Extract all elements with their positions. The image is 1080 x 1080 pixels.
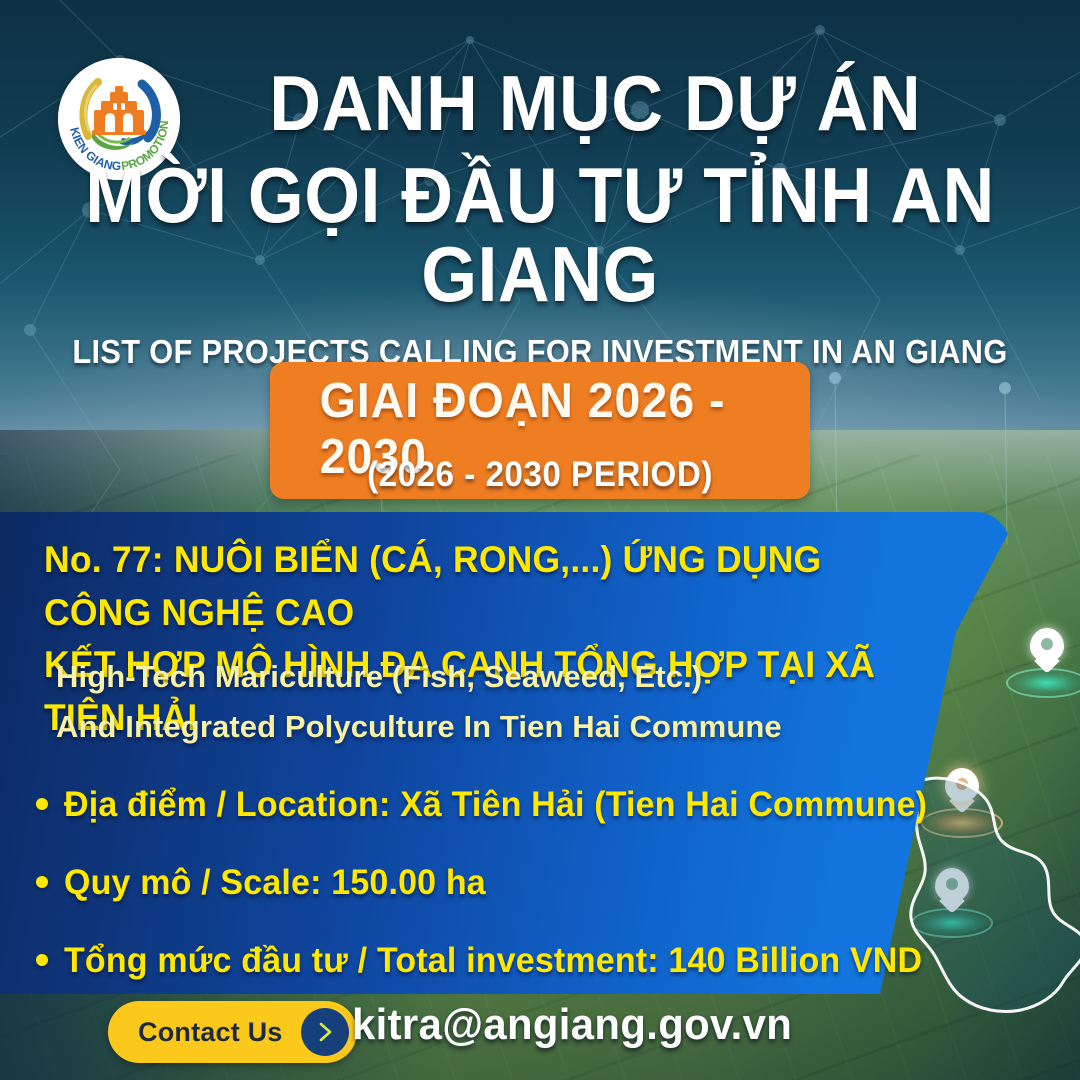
project-subtitle-line2: And Integrated Polyculture In Tien Hai C… — [56, 702, 936, 752]
project-detail-investment: Tổng mức đầu tư / Total investment: 140 … — [64, 940, 922, 982]
page-title-line1: DANH MỤC DỰ ÁN — [43, 64, 1037, 144]
contact-us-label: Contact Us — [138, 1017, 283, 1048]
period-english-label: (2026 - 2030 PERIOD) — [367, 455, 713, 495]
chevron-right-glyph — [313, 1020, 337, 1044]
project-detail-scale: Quy mô / Scale: 150.00 ha — [64, 862, 486, 904]
poster-canvas: KIEN GIANG PROMOTION DANH MỤC DỰ ÁN MỜI … — [0, 0, 1080, 1080]
contact-us-button[interactable]: Contact Us — [108, 1001, 357, 1063]
project-heading-line1: No. 77: NUÔI BIỂN (CÁ, RONG,...) ỨNG DỤN… — [44, 539, 821, 633]
project-details-list: Địa điểm / Location: Xã Tiên Hải (Tien H… — [30, 784, 960, 1018]
project-subtitle-english: High-Tech Mariculture (Fish, Seaweed, Et… — [56, 652, 936, 752]
bullet-dot-icon — [36, 876, 48, 888]
poster-header: DANH MỤC DỰ ÁN MỜI GỌI ĐẦU TƯ TỈNH AN GI… — [0, 64, 1080, 409]
bullet-dot-icon — [36, 954, 48, 966]
list-item: Địa điểm / Location: Xã Tiên Hải (Tien H… — [30, 784, 960, 826]
project-detail-location: Địa điểm / Location: Xã Tiên Hải (Tien H… — [64, 784, 927, 826]
list-item: Tổng mức đầu tư / Total investment: 140 … — [30, 940, 960, 982]
map-pin-icon — [1030, 628, 1064, 662]
project-panel-content: No. 77: NUÔI BIỂN (CÁ, RONG,...) ỨNG DỤN… — [0, 512, 1010, 994]
contact-email[interactable]: kitra@angiang.gov.vn — [352, 1000, 792, 1050]
page-title-line2: MỜI GỌI ĐẦU TƯ TỈNH AN GIANG — [43, 156, 1037, 315]
chevron-right-icon[interactable] — [301, 1008, 349, 1056]
list-item: Quy mô / Scale: 150.00 ha — [30, 862, 960, 904]
bullet-dot-icon — [36, 798, 48, 810]
project-subtitle-line1: High-Tech Mariculture (Fish, Seaweed, Et… — [56, 652, 936, 702]
